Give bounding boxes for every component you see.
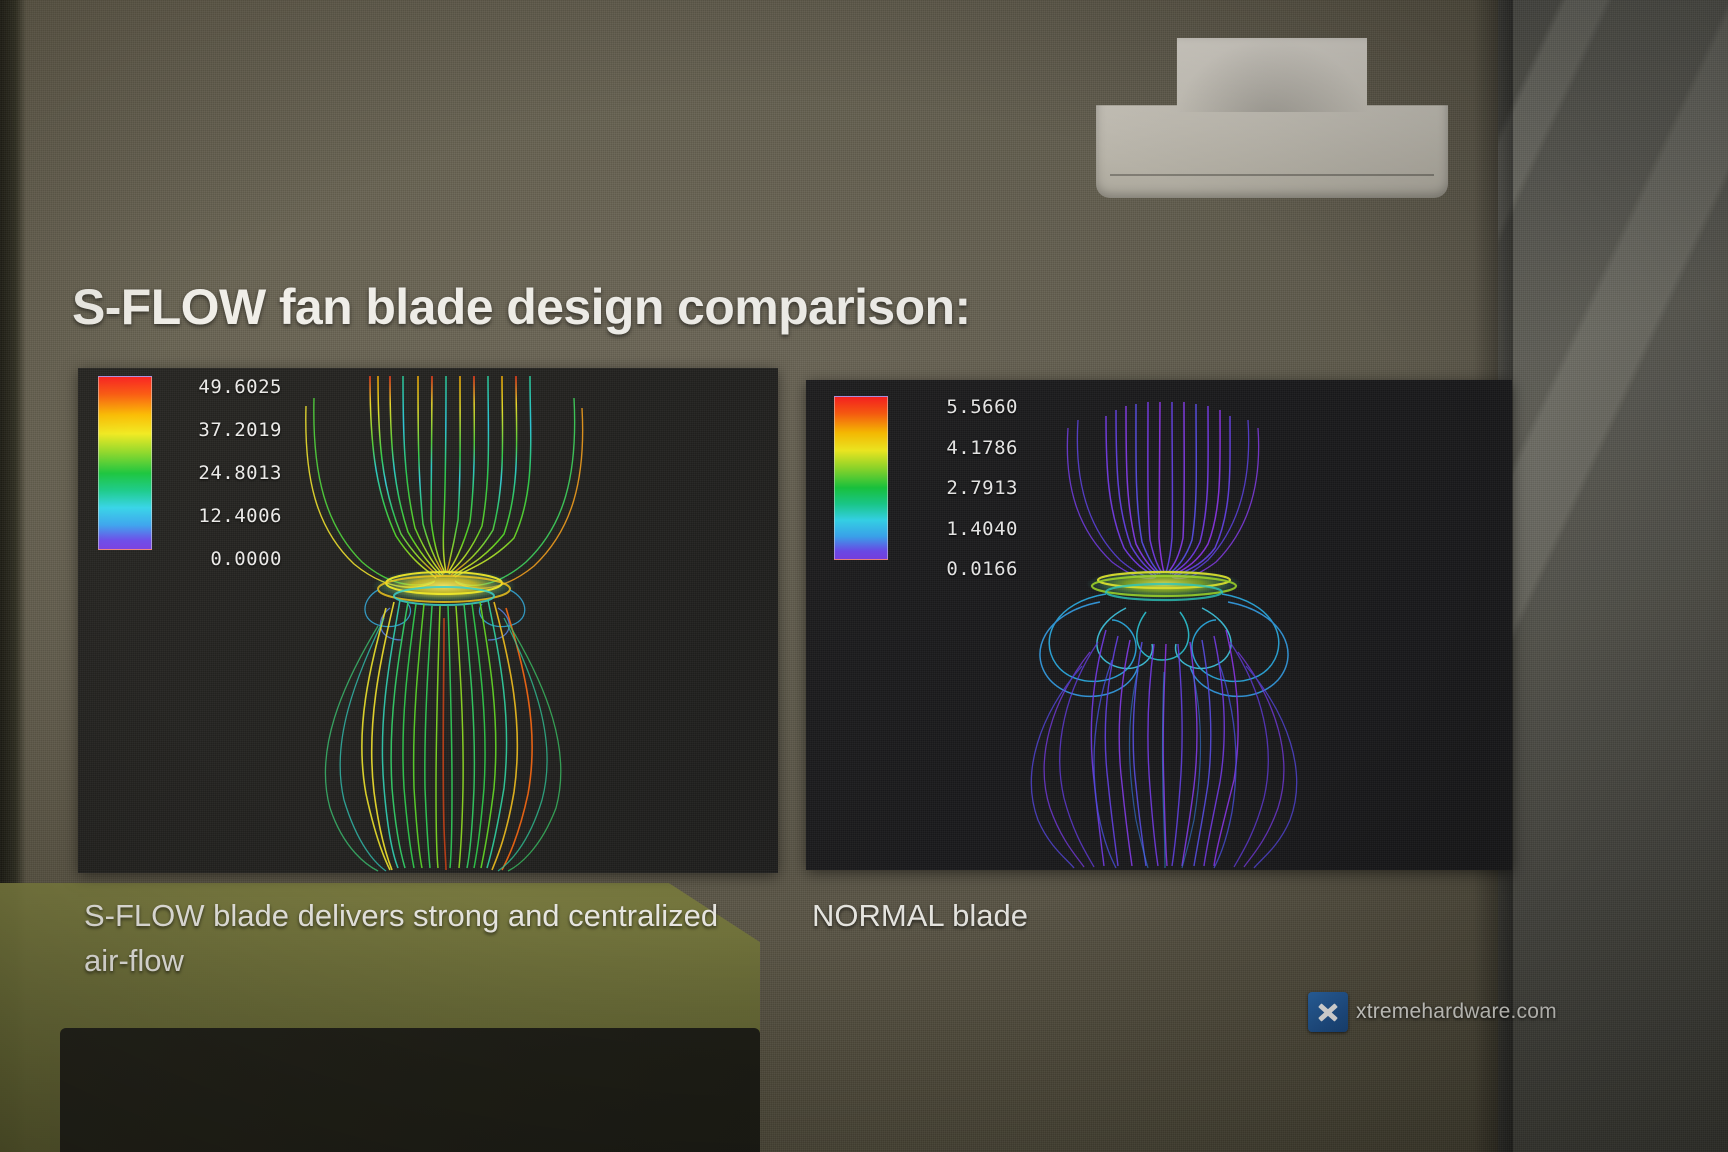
hang-slot-notch-shadow [1173, 38, 1370, 112]
legend-tick: 1.4040 [898, 518, 1018, 559]
caption-normal: NORMAL blade [812, 893, 1232, 938]
colorbar-gradient [98, 376, 152, 550]
watermark: xtremehardware.com [1308, 992, 1557, 1032]
legend-tick: 0.0000 [162, 548, 282, 591]
colorbar-gradient [834, 396, 888, 560]
legend-tick: 2.7913 [898, 477, 1018, 518]
background-scene-right [1498, 0, 1728, 1152]
legend-tick: 5.5660 [898, 396, 1018, 437]
hang-slot-fold-line [1110, 174, 1434, 176]
cfd-panel-normal: 5.5660 4.1786 2.7913 1.4040 0.0166 [806, 380, 1512, 870]
colorbar-tick-labels: 49.6025 37.2019 24.8013 12.4006 0.0000 [162, 376, 282, 591]
watermark-text: xtremehardware.com [1356, 1000, 1557, 1024]
lower-dark-panel [60, 1028, 760, 1152]
legend-tick: 49.6025 [162, 376, 282, 419]
legend-tick: 24.8013 [162, 462, 282, 505]
cfd-panel-s-flow: 49.6025 37.2019 24.8013 12.4006 0.0000 [78, 368, 778, 873]
colorbar-tick-labels: 5.5660 4.1786 2.7913 1.4040 0.0166 [898, 396, 1018, 599]
caption-s-flow: S-FLOW blade delivers strong and central… [84, 893, 724, 983]
legend-tick: 12.4006 [162, 505, 282, 548]
euro-hang-slot [1096, 38, 1448, 198]
product-box-photo: S-FLOW fan blade design comparison: [0, 0, 1728, 1152]
legend-tick: 0.0166 [898, 558, 1018, 599]
x-cross-logo-icon [1308, 992, 1348, 1032]
page-title: S-FLOW fan blade design comparison: [72, 278, 1322, 336]
legend-tick: 4.1786 [898, 437, 1018, 478]
legend-tick: 37.2019 [162, 419, 282, 462]
